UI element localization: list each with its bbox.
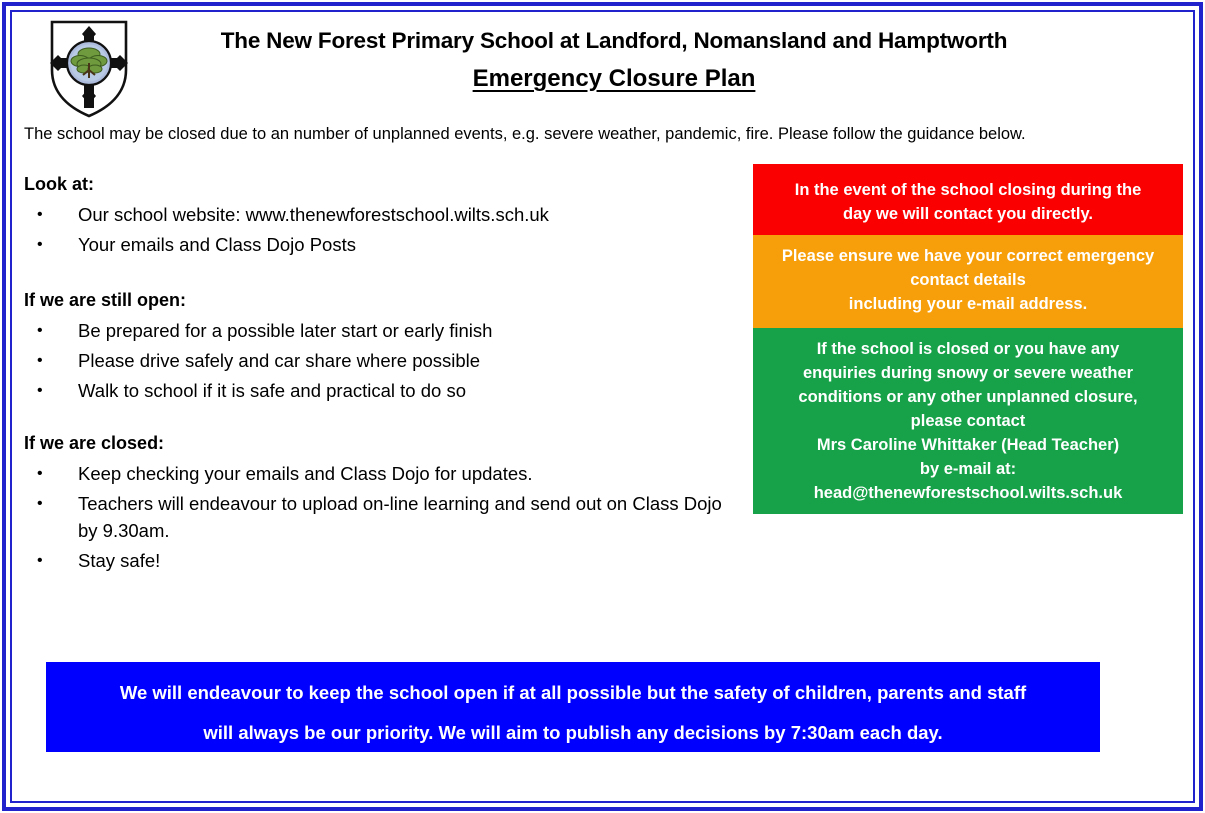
bullet-icon: • (37, 547, 43, 574)
notice-line: conditions or any other unplanned closur… (763, 385, 1173, 409)
list-item: • Keep checking your emails and Class Do… (24, 460, 744, 487)
section-heading-closed: If we are closed: (24, 431, 744, 455)
list-item: • Walk to school if it is safe and pract… (24, 377, 744, 404)
document-content: The New Forest Primary School at Landfor… (14, 14, 1191, 799)
list-item-label: Teachers will endeavour to upload on-lin… (78, 493, 722, 541)
notice-line: enquiries during snowy or severe weather (763, 361, 1173, 385)
notice-line: Mrs Caroline Whittaker (Head Teacher) (763, 433, 1173, 457)
notice-line: day we will contact you directly. (763, 202, 1173, 226)
spacer (24, 407, 744, 431)
notice-box-red: In the event of the school closing durin… (753, 164, 1183, 235)
bullet-icon: • (37, 377, 43, 404)
bullet-icon: • (37, 201, 43, 228)
head-teacher-email: head@thenewforestschool.wilts.sch.uk (763, 481, 1173, 505)
notice-line: Please ensure we have your correct emerg… (763, 244, 1173, 268)
list-item: • Your emails and Class Dojo Posts (24, 231, 744, 258)
section-heading-look-at: Look at: (24, 172, 744, 196)
intro-paragraph: The school may be closed due to an numbe… (24, 124, 1179, 145)
list-item: • Be prepared for a possible later start… (24, 317, 744, 344)
page-title: Emergency Closure Plan (164, 62, 1064, 96)
notice-line: please contact (763, 409, 1173, 433)
notice-line: In the event of the school closing durin… (763, 178, 1173, 202)
notice-line: including your e-mail address. (763, 292, 1173, 316)
list-item-label: Be prepared for a possible later start o… (78, 320, 492, 341)
list-item-label: Our school website: www.thenewforestscho… (78, 204, 549, 225)
list-item-label: Keep checking your emails and Class Dojo… (78, 463, 533, 484)
notice-box-orange: Please ensure we have your correct emerg… (753, 235, 1183, 328)
section-heading-still-open: If we are still open: (24, 288, 744, 312)
bullet-icon: • (37, 490, 43, 517)
closed-list: • Keep checking your emails and Class Do… (24, 460, 744, 574)
list-item: • Please drive safely and car share wher… (24, 347, 744, 374)
notice-box-green: If the school is closed or you have any … (753, 328, 1183, 514)
notice-line: If the school is closed or you have any (763, 337, 1173, 361)
list-item: • Our school website: www.thenewforestsc… (24, 201, 744, 228)
school-name: The New Forest Primary School at Landfor… (164, 26, 1064, 56)
document-header: The New Forest Primary School at Landfor… (14, 14, 1191, 114)
banner-line: We will endeavour to keep the school ope… (46, 673, 1100, 713)
spacer (24, 261, 744, 288)
list-item-label: Please drive safely and car share where … (78, 350, 480, 371)
look-at-list: • Our school website: www.thenewforestsc… (24, 201, 744, 258)
title-block: The New Forest Primary School at Landfor… (164, 26, 1064, 96)
still-open-list: • Be prepared for a possible later start… (24, 317, 744, 404)
emergency-closure-plan-document: The New Forest Primary School at Landfor… (0, 0, 1205, 813)
school-crest-icon (48, 18, 130, 118)
list-item-label: Your emails and Class Dojo Posts (78, 234, 356, 255)
list-item-label: Stay safe! (78, 550, 160, 571)
list-item: • Teachers will endeavour to upload on-l… (24, 490, 744, 544)
guidance-column: Look at: • Our school website: www.thene… (24, 172, 744, 577)
notice-line: by e-mail at: (763, 457, 1173, 481)
commitment-banner: We will endeavour to keep the school ope… (46, 662, 1100, 752)
list-item-label: Walk to school if it is safe and practic… (78, 380, 466, 401)
notice-line: contact details (763, 268, 1173, 292)
bullet-icon: • (37, 317, 43, 344)
banner-line: will always be our priority. We will aim… (46, 713, 1100, 753)
bullet-icon: • (37, 347, 43, 374)
list-item: • Stay safe! (24, 547, 744, 574)
bullet-icon: • (37, 460, 43, 487)
bullet-icon: • (37, 231, 43, 258)
